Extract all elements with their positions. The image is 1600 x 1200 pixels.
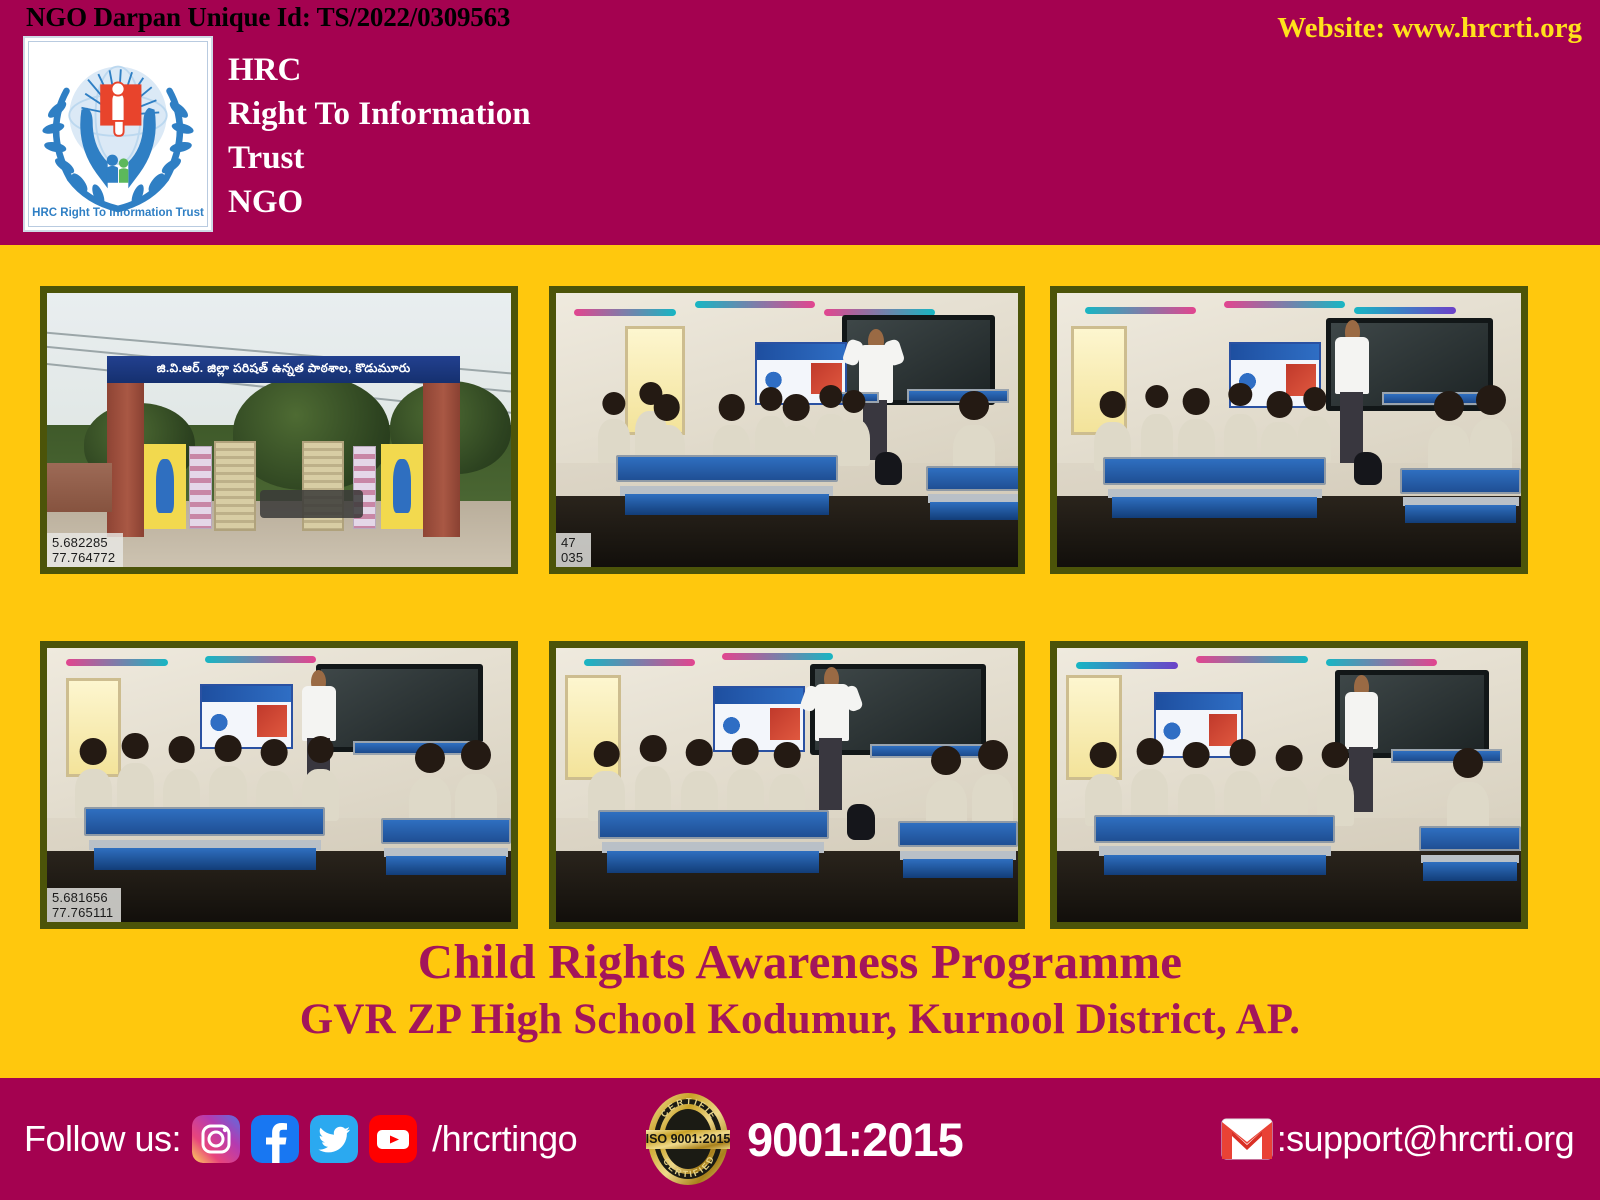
bench [381,818,511,876]
photo-grid: జి.వి.ఆర్. జిల్లా పరిషత్ ఉన్నత పాఠశాల, క… [0,245,1600,925]
decor-streamer [205,656,316,663]
decor-streamer [584,659,695,666]
social-handle[interactable]: /hrcrtingo [432,1118,577,1160]
gate-door-left [214,441,256,531]
desk [907,389,1009,403]
gate-signboard: జి.వి.ఆర్. జిల్లా పరిషత్ ఉన్నత పాఠశాల, క… [107,356,460,383]
gps-latitude: 5.682285 [52,535,115,550]
social-links: Follow us: [24,1115,577,1163]
poster-footer: Follow us: [0,1078,1600,1200]
classroom-scene [556,648,1018,922]
mural-boy [381,444,423,529]
school-bag [847,804,875,840]
student [1141,414,1173,461]
iso-number-label: 9001:2015 [747,1112,963,1167]
photo-classroom-1[interactable]: 47 035 [549,286,1025,574]
poster-header: NGO Darpan Unique Id: TS/2022/0309563 We… [0,0,1600,245]
gate-door-right [302,441,344,531]
bench [898,821,1018,879]
facebook-icon[interactable] [251,1115,299,1163]
organization-name: HRC Right To Information Trust NGO [228,48,531,224]
school-bag [1354,452,1382,485]
decor-streamer [66,659,168,666]
iso-certification: ISO 9001:2015 CERTIFIED CERTIFIED 9001:2… [645,1091,963,1187]
website-label: Website: www.hrcrti.org [1277,12,1582,45]
desk [1391,749,1502,763]
window [1071,326,1127,436]
gmail-icon [1221,1118,1273,1160]
classroom-scene [1057,648,1521,922]
gps-longitude: 77.765111 [52,905,113,920]
bench [1103,457,1326,517]
smart-board [316,664,483,752]
gate-scene: జి.వి.ఆర్. జిల్లా పరిషత్ ఉన్నత పాఠశాల, క… [47,293,511,567]
gps-overlay: 5.682285 77.764772 [47,533,123,567]
decor-streamer [1326,659,1437,666]
gps-latitude: 5.681656 [52,890,113,905]
speaker-torso [1335,337,1368,395]
twitter-icon[interactable] [310,1115,358,1163]
desk [870,744,990,758]
student [1224,414,1256,463]
speaker-torso [1345,692,1378,750]
photo-school-gate[interactable]: జి.వి.ఆర్. జిల్లా పరిషత్ ఉన్నత పాఠశాల, క… [40,286,518,574]
decor-streamer [1076,662,1178,669]
iso-seal-icon: ISO 9001:2015 CERTIFIED CERTIFIED [645,1091,731,1187]
decor-streamer [1196,656,1307,663]
photo-classroom-4[interactable] [549,641,1025,929]
parked-vehicles [260,490,362,517]
decor-streamer [574,309,676,316]
bench [1094,815,1335,875]
student [117,763,154,812]
title-block: Child Rights Awareness Programme GVR ZP … [0,932,1600,1048]
email-address[interactable]: :support@hrcrti.org [1277,1118,1574,1160]
student [1298,416,1330,463]
email-contact[interactable]: :support@hrcrti.org [1221,1118,1574,1160]
classroom-scene [556,293,1018,567]
instagram-icon[interactable] [192,1115,240,1163]
iso-seal-label: ISO 9001:2015 [646,1132,731,1146]
mural-girl [144,444,186,529]
classroom-scene [1057,293,1521,567]
bench [616,455,838,515]
gate-pillar-left [107,383,144,536]
gps-longitude: 77.764772 [52,550,115,565]
gps-overlay: 47 035 [556,533,591,567]
school-bag [875,452,903,485]
org-line-2: Right To Information [228,92,531,136]
hrc-logo: HRC Right To Information Trust [23,36,213,232]
wall-posters [189,446,212,528]
photo-classroom-3[interactable]: 5.681656 77.765111 [40,641,518,929]
student [838,419,870,466]
poster-canvas: NGO Darpan Unique Id: TS/2022/0309563 We… [0,0,1600,1200]
speaker-torso [302,686,335,741]
bench [926,466,1018,521]
org-line-1: HRC [228,48,531,92]
decor-streamer [695,301,815,308]
ngo-darpan-id: NGO Darpan Unique Id: TS/2022/0309563 [26,2,510,33]
gps-overlay: 5.681656 77.765111 [47,888,121,922]
classroom-scene [47,648,511,922]
photo-classroom-2[interactable] [1050,286,1528,574]
decor-streamer [722,653,833,660]
decor-streamer [1354,307,1456,314]
follow-us-label: Follow us: [24,1118,181,1160]
gate-pillar-right [423,383,460,536]
gps-latitude: 47 [561,535,583,550]
boundary-wall [47,463,112,512]
gate-signboard-text: జి.వి.ఆర్. జిల్లా పరిషత్ ఉన్నత పాఠశాల, క… [157,361,411,378]
decor-streamer [1224,301,1345,308]
photo-classroom-5[interactable] [1050,641,1528,929]
youtube-icon[interactable] [369,1115,417,1163]
student [1470,419,1512,474]
student [635,766,672,815]
org-line-3: Trust [228,136,531,180]
hrc-logo-inner: HRC Right To Information Trust [28,41,208,227]
bench [84,807,325,870]
programme-title: Child Rights Awareness Programme [0,932,1600,992]
bench [1419,826,1521,881]
hrc-logo-caption: HRC Right To Information Trust [29,207,207,219]
programme-location: GVR ZP High School Kodumur, Kurnool Dist… [0,992,1600,1048]
org-line-4: NGO [228,180,531,224]
student [1131,769,1168,818]
decor-streamer [1085,307,1196,314]
hrc-logo-graphic [29,42,207,226]
bench [1400,468,1521,523]
speaker-legs [819,738,842,809]
bench [598,810,829,873]
gps-longitude: 035 [561,550,583,565]
